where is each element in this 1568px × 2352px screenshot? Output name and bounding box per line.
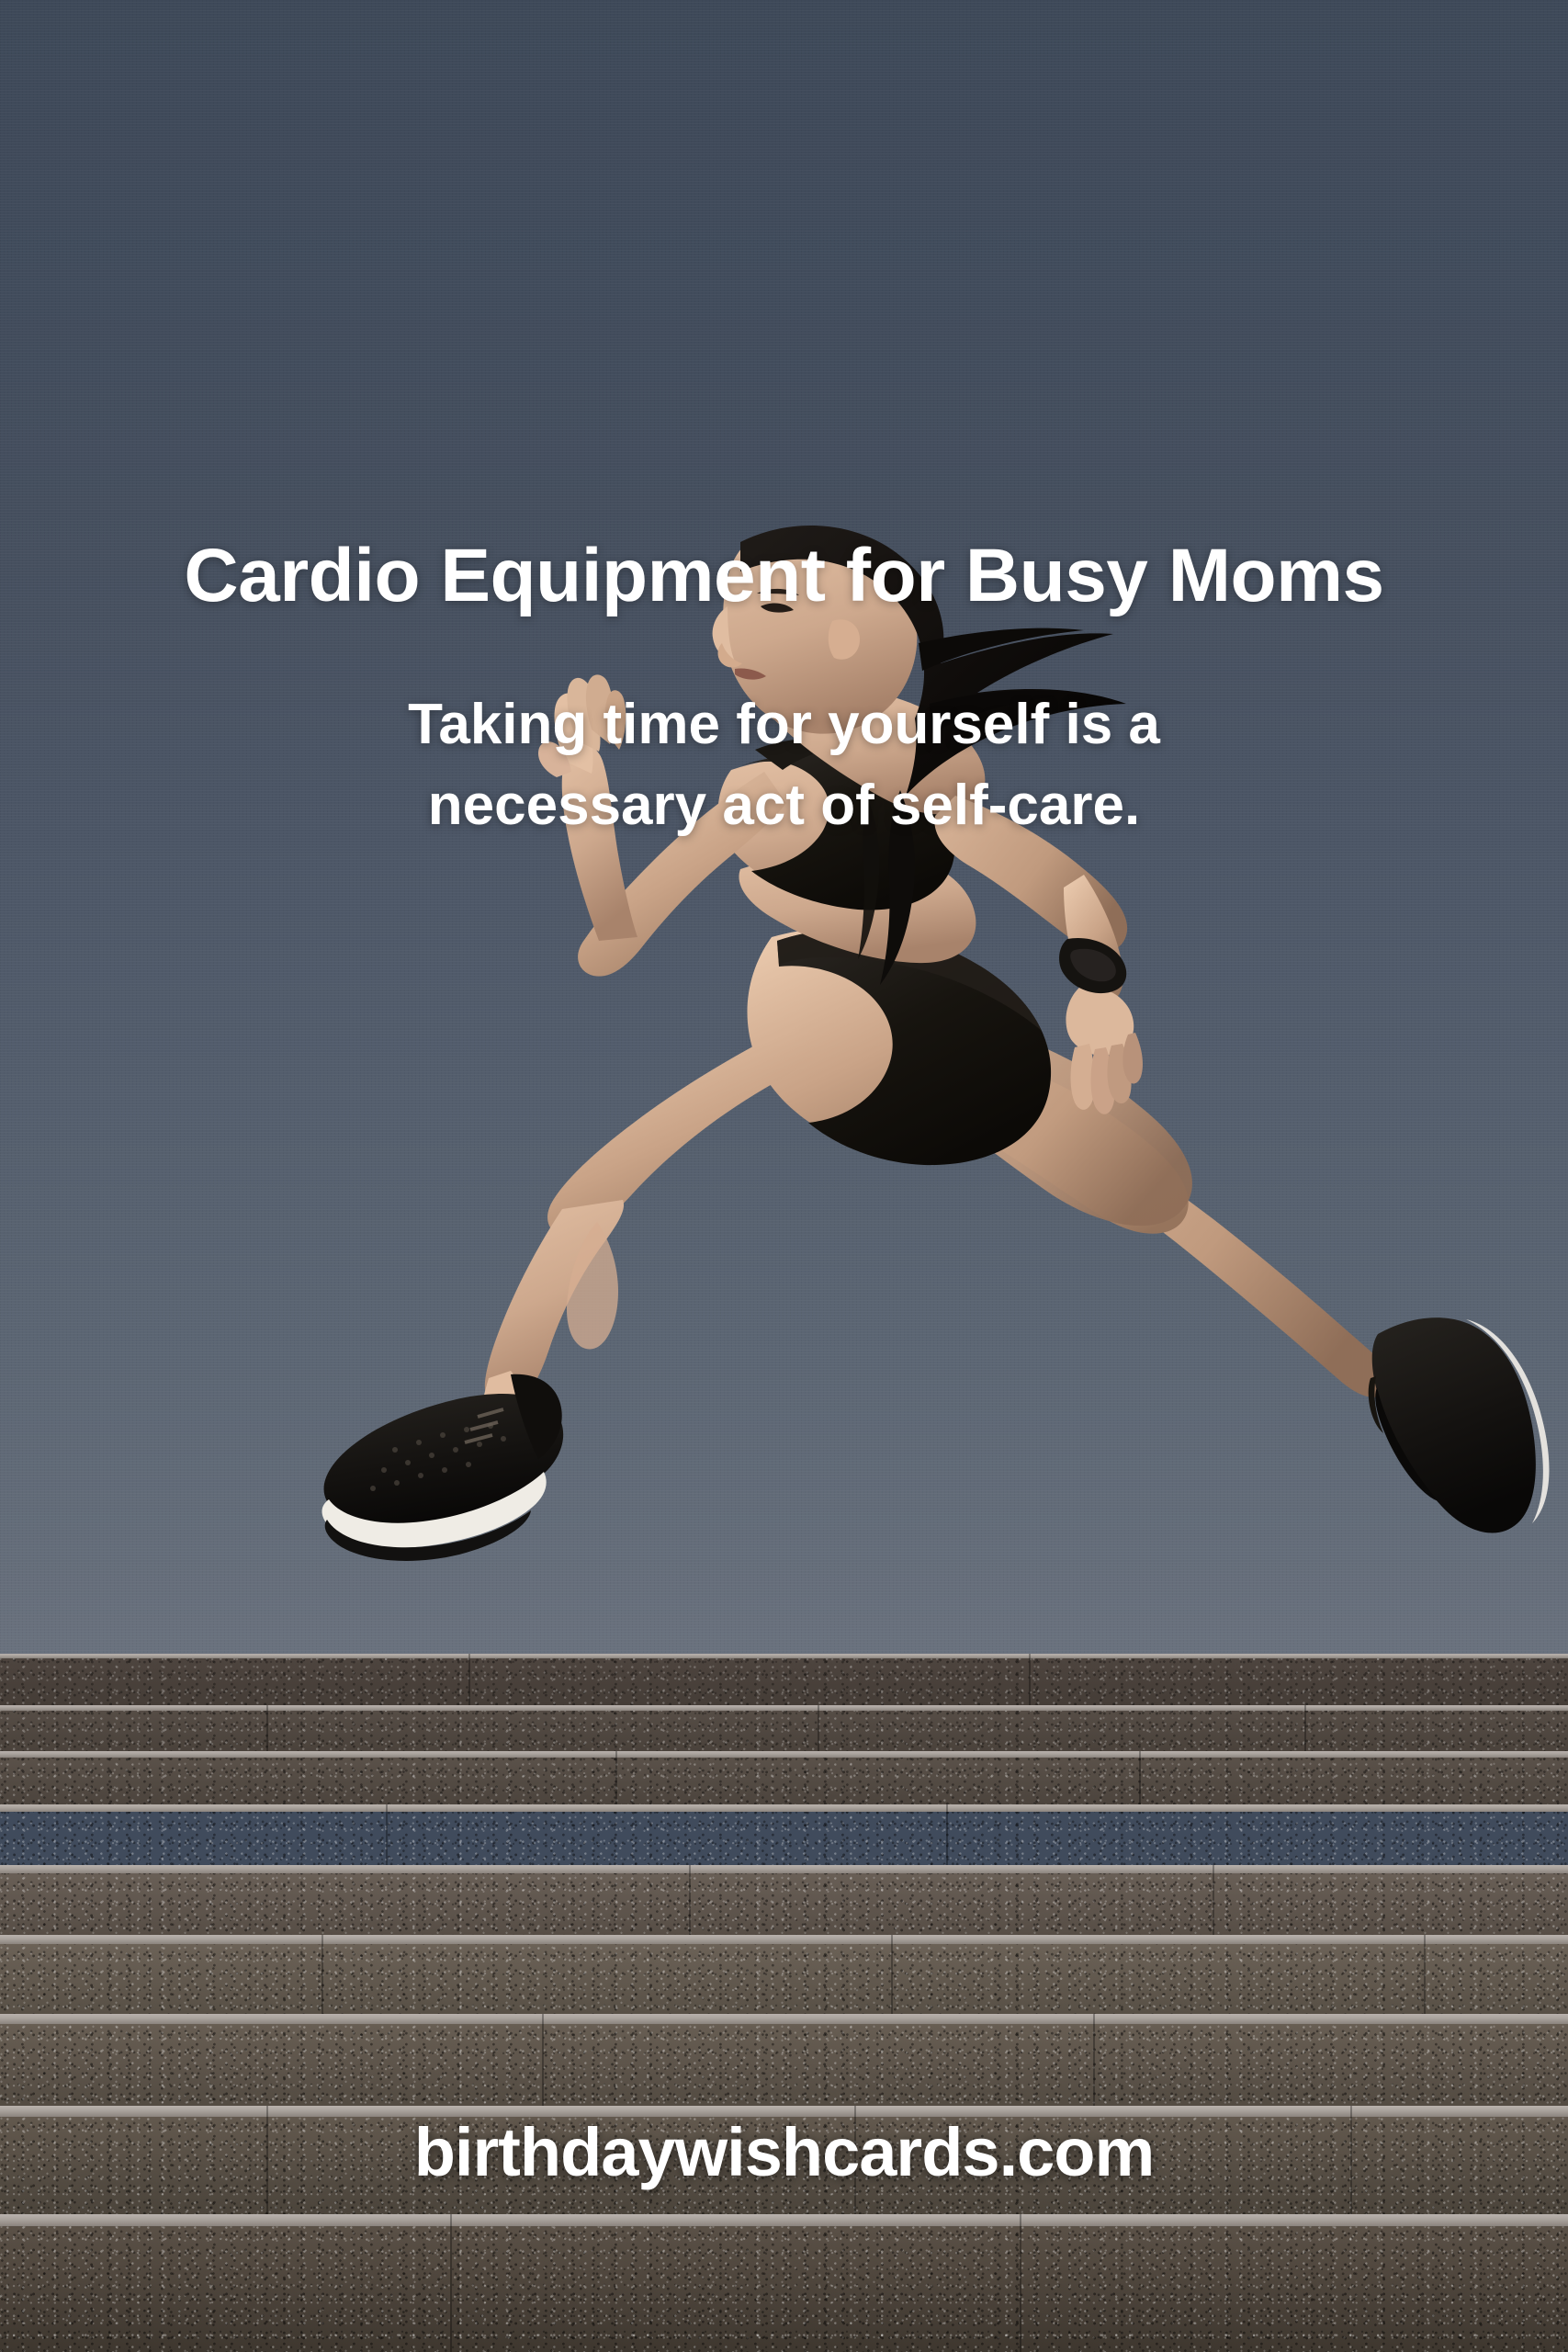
card-subtitle: Taking time for yourself is a necessary … xyxy=(187,684,1382,846)
stair-step xyxy=(0,1804,1568,1865)
fitness-quote-card: Cardio Equipment for Busy Moms Taking ti… xyxy=(0,0,1568,2352)
stair-step xyxy=(0,2214,1568,2352)
stair-step xyxy=(0,1654,1568,1705)
card-subtitle-line-1: Taking time for yourself is a xyxy=(187,684,1382,765)
stone-staircase xyxy=(0,1654,1568,2352)
stair-step xyxy=(0,1865,1568,1935)
site-watermark: birthdaywishcards.com xyxy=(141,2113,1427,2191)
card-subtitle-line-2: necessary act of self-care. xyxy=(187,765,1382,846)
stair-step xyxy=(0,1935,1568,2014)
stair-step xyxy=(0,2014,1568,2106)
stair-step xyxy=(0,1705,1568,1751)
stair-step xyxy=(0,1751,1568,1804)
card-title: Cardio Equipment for Busy Moms xyxy=(0,538,1568,614)
